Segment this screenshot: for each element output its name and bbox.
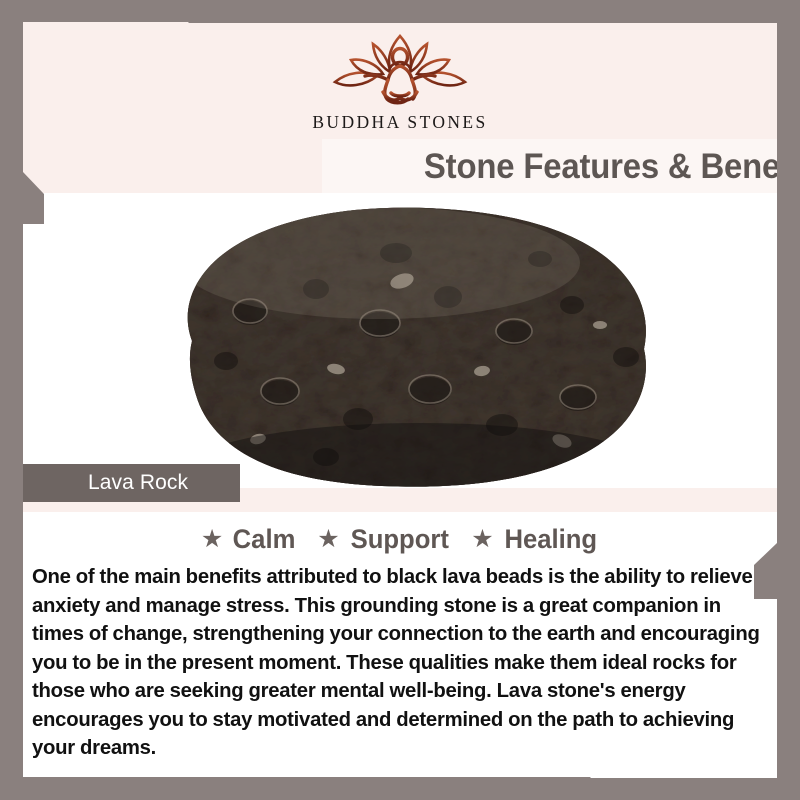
benefit-label: Calm xyxy=(233,524,296,555)
photo-caption: Lava Rock xyxy=(88,471,188,495)
frame-top-wedge xyxy=(188,0,800,23)
lotus-meditation-icon xyxy=(325,30,475,108)
star-icon: ★ xyxy=(201,527,223,552)
body-paragraph: One of the main benefits attributed to b… xyxy=(32,563,768,763)
lava-rock-illustration xyxy=(130,193,690,488)
brand-wordmark: BUDDHA STONES xyxy=(312,112,487,133)
benefit-item-healing: ★ Healing xyxy=(471,524,599,555)
benefit-label: Healing xyxy=(504,524,597,555)
title-banner: Stone Features & Benefits xyxy=(322,139,778,195)
star-icon: ★ xyxy=(317,527,339,552)
benefit-label: Support xyxy=(350,524,448,555)
frame-bottom-wedge xyxy=(0,777,612,800)
content-section: ★ Calm ★ Support ★ Healing One of the ma… xyxy=(22,512,778,778)
header-band: BUDDHA STONES Stone Features & Benefits xyxy=(22,22,778,193)
lava-rock-image xyxy=(130,193,690,488)
frame-left-bar xyxy=(0,0,23,800)
poster-frame: BUDDHA STONES Stone Features & Benefits xyxy=(0,0,800,800)
benefit-item-calm: ★ Calm xyxy=(201,524,297,555)
star-icon: ★ xyxy=(471,527,493,552)
frame-right-bar xyxy=(777,0,800,800)
photo-caption-bar: Lava Rock xyxy=(22,464,240,502)
content-plate: BUDDHA STONES Stone Features & Benefits xyxy=(22,22,778,778)
brand-logo: BUDDHA STONES xyxy=(22,30,778,133)
stone-photo xyxy=(22,193,778,488)
benefits-row: ★ Calm ★ Support ★ Healing xyxy=(22,524,778,555)
page-title: Stone Features & Benefits xyxy=(424,147,778,187)
benefit-item-support: ★ Support xyxy=(317,524,451,555)
